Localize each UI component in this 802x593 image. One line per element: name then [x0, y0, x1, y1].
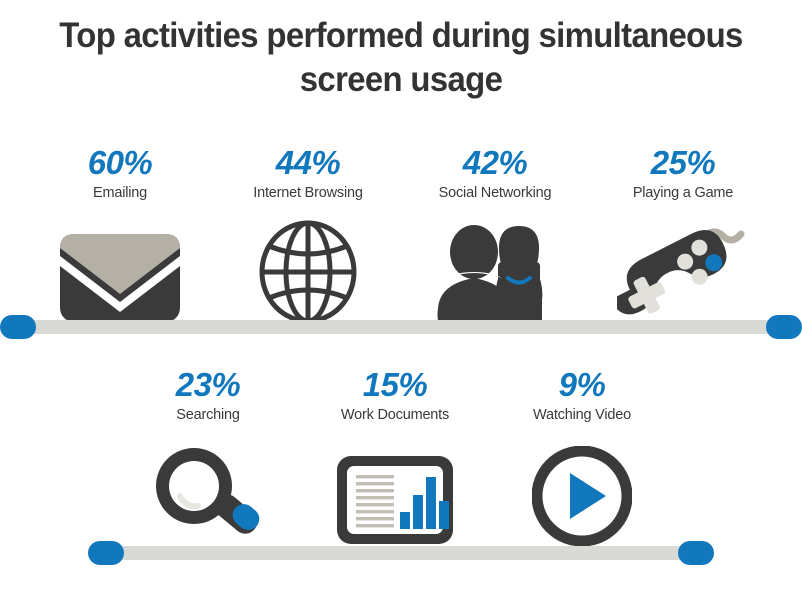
activity-label: Searching: [113, 408, 303, 424]
envelope-icon: [25, 214, 215, 324]
activity-percent: 9%: [487, 368, 677, 402]
activity-item-internet-browsing: 44% Internet Browsing: [213, 146, 403, 324]
activity-percent: 42%: [400, 146, 590, 180]
activity-row-2: 23% Searching 15% Work Documents: [0, 368, 802, 568]
play-circle-icon: [487, 436, 677, 546]
activity-item-work-documents: 15% Work Documents: [300, 368, 490, 546]
activity-label: Work Documents: [300, 408, 490, 424]
activity-percent: 60%: [25, 146, 215, 180]
activity-item-emailing: 60% Emailing: [25, 146, 215, 324]
activity-item-watching-video: 9% Watching Video: [487, 368, 677, 546]
activity-label: Emailing: [25, 186, 215, 202]
activity-percent: 25%: [588, 146, 778, 180]
activity-percent: 44%: [213, 146, 403, 180]
activity-percent: 23%: [113, 368, 303, 402]
activity-percent: 15%: [300, 368, 490, 402]
activity-label: Internet Browsing: [213, 186, 403, 202]
page-title: Top activities performed during simultan…: [24, 14, 778, 102]
activity-row-1: 60% Emailing 44% Internet Browsing: [0, 146, 802, 346]
activity-label: Social Networking: [400, 186, 590, 202]
divider-cap-left-icon: [88, 541, 124, 565]
gamepad-icon: [588, 214, 778, 324]
divider-cap-right-icon: [766, 315, 802, 339]
activity-label: Playing a Game: [588, 186, 778, 202]
globe-icon: [213, 214, 403, 324]
activity-label: Watching Video: [487, 408, 677, 424]
divider-bar-2: [110, 546, 692, 560]
document-chart-icon: [300, 436, 490, 546]
divider-cap-left-icon: [0, 315, 36, 339]
activity-item-social-networking: 42% Social Networking: [400, 146, 590, 324]
divider-cap-right-icon: [678, 541, 714, 565]
divider-bar-1: [22, 320, 780, 334]
activity-item-searching: 23% Searching: [113, 368, 303, 546]
magnifier-icon: [113, 436, 303, 546]
activity-item-playing-a-game: 25% Playing a Game: [588, 146, 778, 324]
people-icon: [400, 214, 590, 324]
